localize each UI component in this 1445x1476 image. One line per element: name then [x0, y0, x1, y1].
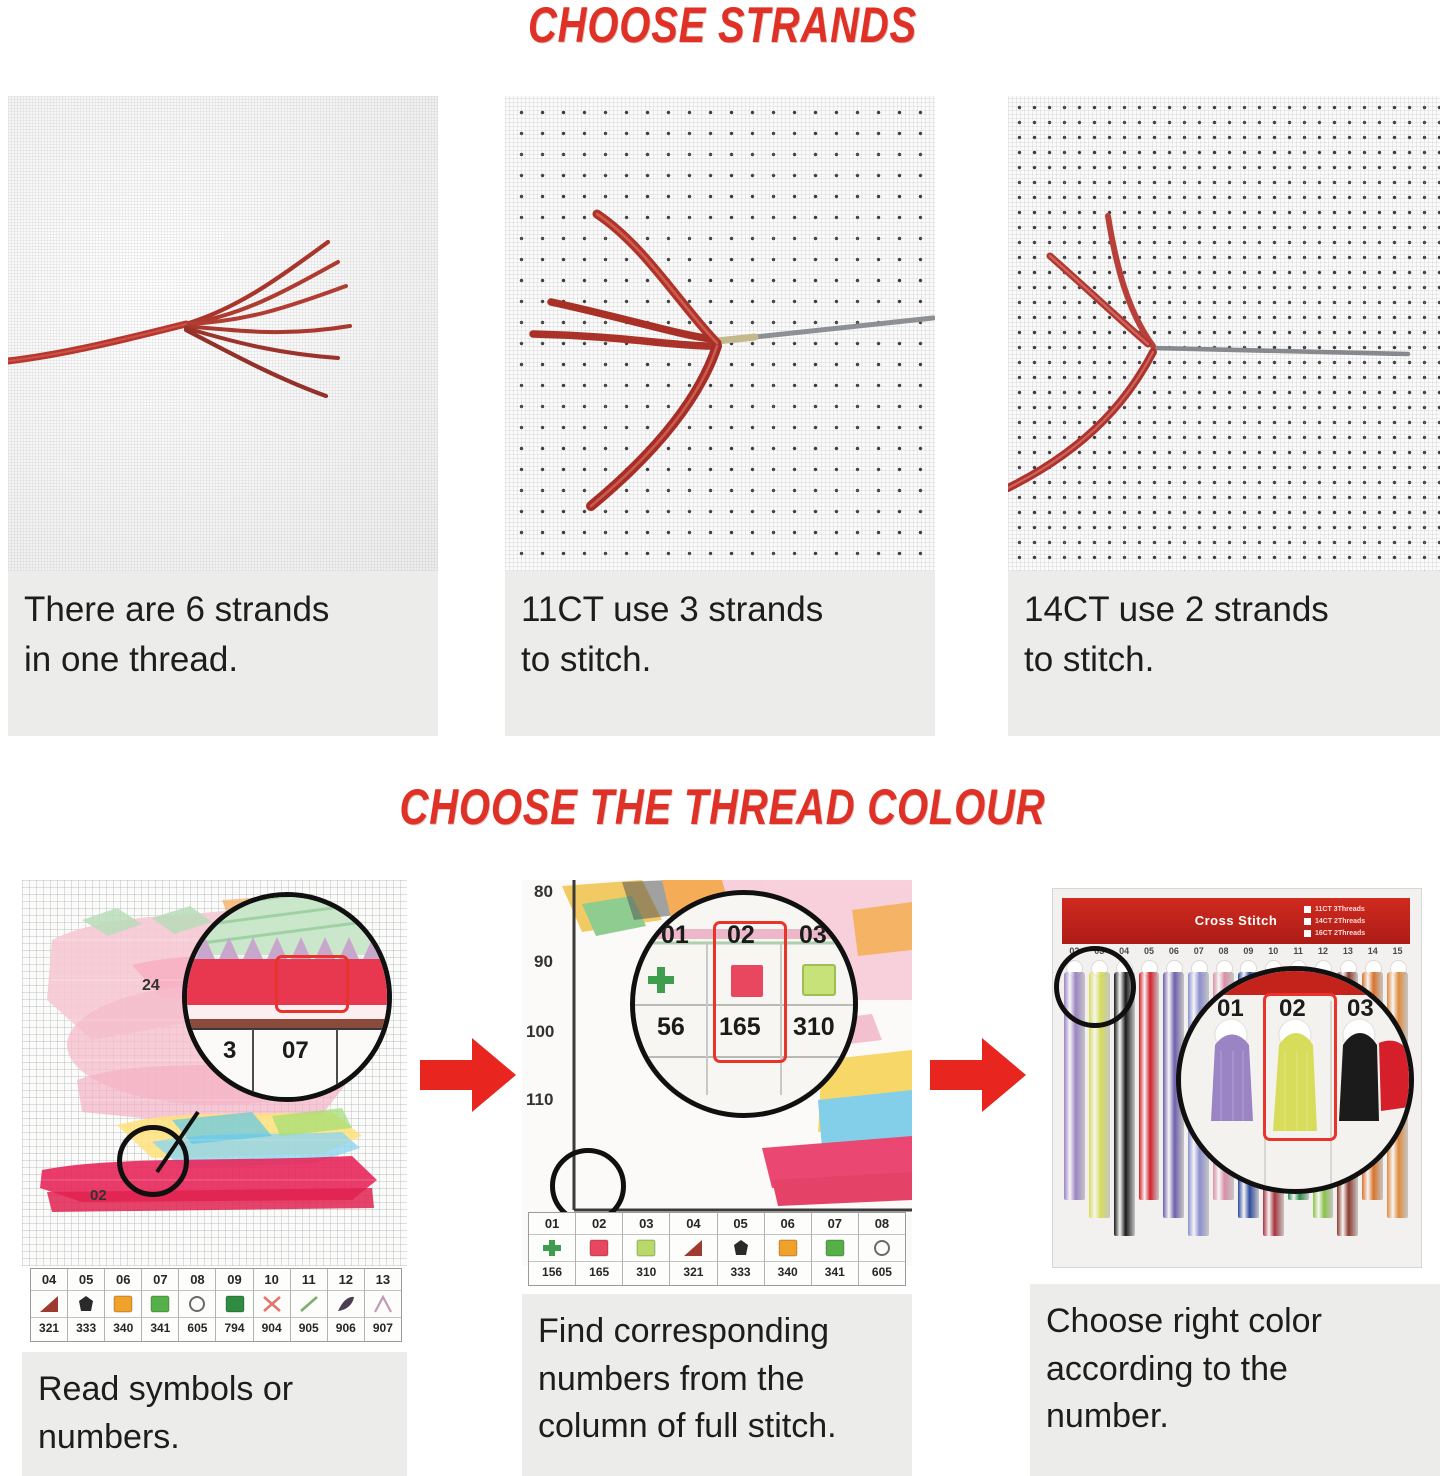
- photo-plain-fabric-thread: [8, 96, 438, 571]
- legend-number: 04: [31, 1269, 67, 1290]
- caption-read-symbols: Read symbols or numbers.: [22, 1352, 407, 1476]
- legend-column: 11905: [291, 1269, 328, 1341]
- magnified-number-2: 07: [282, 1037, 309, 1065]
- legend-symbol-icon: [105, 1290, 141, 1318]
- photo-aida-14ct-needle: [1008, 96, 1440, 571]
- caption-find-numbers: Find corresponding numbers from the colu…: [522, 1294, 912, 1476]
- caption-choose-color: Choose right color according to the numb…: [1030, 1284, 1440, 1476]
- magnified-number-01: 01: [661, 921, 689, 950]
- legend-dmc-code: 341: [142, 1318, 178, 1338]
- thread-peg-number: 13: [1335, 946, 1360, 956]
- legend-column: 06340: [765, 1213, 812, 1285]
- caption-11ct: 11CT use 3 strands to stitch.: [505, 571, 935, 736]
- photo-aida-11ct-needle: [505, 96, 935, 571]
- legend-symbol-icon: [291, 1290, 327, 1318]
- legend-symbol-icon: [623, 1234, 669, 1262]
- thread-peg-number: 06: [1161, 946, 1186, 956]
- magnifier-lens-symbols: 3 07: [182, 892, 392, 1102]
- strand-panel-14ct: 14CT use 2 strands to stitch.: [1008, 96, 1440, 736]
- caption-line-2: to stitch.: [1024, 635, 1424, 685]
- needle-eye: [717, 337, 755, 341]
- strand-panel-6-strands: There are 6 strands in one thread.: [8, 96, 438, 736]
- checkbox-icon[interactable]: [1304, 918, 1311, 925]
- legend-dmc-code: 340: [765, 1262, 811, 1282]
- magnified-number-01: 01: [1217, 995, 1244, 1023]
- legend-column: 01156: [529, 1213, 576, 1285]
- legend-number: 05: [68, 1269, 104, 1290]
- magnified-number-1: 3: [223, 1037, 236, 1065]
- svg-text:02: 02: [90, 1187, 107, 1204]
- checkbox-label: 16CT 2Threads: [1315, 930, 1365, 937]
- legend-column: 07341: [142, 1269, 179, 1341]
- legend-dmc-code: 794: [216, 1318, 252, 1338]
- thread-peg-number: 10: [1261, 946, 1286, 956]
- legend-number: 07: [812, 1213, 858, 1234]
- magnified-number-02: 02: [727, 921, 755, 950]
- highlight-box-magnified: [275, 955, 349, 1013]
- caption-line-2: numbers.: [38, 1414, 391, 1462]
- legend-symbol-icon: [142, 1290, 178, 1318]
- caption-line-1: There are 6 strands: [24, 585, 422, 635]
- thread-peg-number: 14: [1360, 946, 1385, 956]
- checkbox-label: 11CT 3Threads: [1315, 906, 1365, 913]
- legend-symbol-icon: [365, 1290, 401, 1318]
- thread-six-strands-illustration: [8, 96, 438, 571]
- legend-column: 08605: [859, 1213, 905, 1285]
- needle-shaft: [1153, 348, 1408, 354]
- legend-symbol-icon: [529, 1234, 575, 1262]
- colour-panel-find-numbers: 80 90 100 110 01 02: [522, 880, 912, 1476]
- thread-card-header: Cross Stitch 11CT 3Threads 14CT 2Threads…: [1062, 898, 1410, 944]
- thread-peg-number: 12: [1311, 946, 1336, 956]
- legend-symbol-icon: [179, 1290, 215, 1318]
- thread-peg-number: 05: [1137, 946, 1162, 956]
- photo-thread-card: Cross Stitch 11CT 3Threads 14CT 2Threads…: [1030, 880, 1440, 1278]
- legend-number: 02: [576, 1213, 622, 1234]
- legend-dmc-code: 905: [291, 1318, 327, 1338]
- caption-line-2: to stitch.: [521, 635, 919, 685]
- legend-symbol-icon: [670, 1234, 716, 1262]
- legend-symbol-icon: [859, 1234, 905, 1262]
- legend-column: 09794: [216, 1269, 253, 1341]
- legend-number: 11: [291, 1269, 327, 1290]
- legend-dmc-code: 907: [365, 1318, 401, 1338]
- legend-column: 04321: [670, 1213, 717, 1285]
- section-heading-choose-thread-colour: CHOOSE THE THREAD COLOUR: [145, 778, 1301, 836]
- caption-line-1: Read symbols or: [38, 1366, 391, 1414]
- caption-line-3: number.: [1046, 1393, 1424, 1441]
- legend-column: 10904: [254, 1269, 291, 1341]
- photo-pattern-chart-symbols: 24 02: [22, 880, 407, 1266]
- colour-panel-choose-color: Cross Stitch 11CT 3Threads 14CT 2Threads…: [1030, 880, 1440, 1476]
- legend-dmc-code: 605: [859, 1262, 905, 1282]
- legend-symbol-icon: [68, 1290, 104, 1318]
- legend-column: 06340: [105, 1269, 142, 1341]
- checkbox-icon[interactable]: [1304, 930, 1311, 937]
- magnified-code-165: 165: [719, 1013, 761, 1042]
- legend-number: 05: [718, 1213, 764, 1234]
- legend-symbol-icon: [576, 1234, 622, 1262]
- caption-line-1: Choose right color: [1046, 1298, 1424, 1346]
- thread-two-strands-needle-illustration: [1008, 96, 1440, 571]
- legend-number: 03: [623, 1213, 669, 1234]
- caption-line-1: Find corresponding: [538, 1308, 896, 1356]
- caption-line-3: column of full stitch.: [538, 1403, 896, 1451]
- legend-number: 04: [670, 1213, 716, 1234]
- legend-dmc-code: 904: [254, 1318, 290, 1338]
- legend-column: 12906: [328, 1269, 365, 1341]
- legend-column: 04321: [31, 1269, 68, 1341]
- legend-number: 12: [328, 1269, 364, 1290]
- legend-dmc-code: 333: [718, 1262, 764, 1282]
- caption-14ct: 14CT use 2 strands to stitch.: [1008, 571, 1440, 736]
- row-axis-label-90: 90: [534, 952, 553, 972]
- legend-column: 08605: [179, 1269, 216, 1341]
- legend-symbol-icon: [812, 1234, 858, 1262]
- legend-number: 09: [216, 1269, 252, 1290]
- thread-peg-number: 08: [1211, 946, 1236, 956]
- svg-text:24: 24: [142, 977, 160, 994]
- legend-column: 03310: [623, 1213, 670, 1285]
- legend-dmc-code: 341: [812, 1262, 858, 1282]
- legend-dmc-code: 605: [179, 1318, 215, 1338]
- chart-legend-symbols: 0432105333063400734108605097941090411905…: [30, 1268, 402, 1342]
- magnifier-source-circle: [1054, 946, 1136, 1028]
- legend-column: 05333: [718, 1213, 765, 1285]
- legend-dmc-code: 310: [623, 1262, 669, 1282]
- magnifier-lens-threads: 01 02 03: [1176, 966, 1414, 1194]
- legend-symbol-icon: [328, 1290, 364, 1318]
- legend-number: 07: [142, 1269, 178, 1290]
- arrow-right-1: [420, 1032, 516, 1118]
- legend-column: 07341: [812, 1213, 859, 1285]
- legend-number: 01: [529, 1213, 575, 1234]
- caption-line-2: in one thread.: [24, 635, 422, 685]
- legend-dmc-code: 333: [68, 1318, 104, 1338]
- photo-pattern-chart-numbers: 80 90 100 110 01 02: [522, 880, 912, 1266]
- thread-peg-number: 07: [1186, 946, 1211, 956]
- checkbox-icon[interactable]: [1304, 906, 1311, 913]
- caption-6-strands: There are 6 strands in one thread.: [8, 571, 438, 736]
- legend-number: 08: [179, 1269, 215, 1290]
- legend-symbol-icon: [765, 1234, 811, 1262]
- legend-column: 05333: [68, 1269, 105, 1341]
- legend-number: 10: [254, 1269, 290, 1290]
- legend-dmc-code: 906: [328, 1318, 364, 1338]
- legend-dmc-code: 165: [576, 1262, 622, 1282]
- row-axis-label-110: 110: [526, 1090, 553, 1110]
- magnified-number-03: 03: [799, 921, 827, 950]
- row-axis-label-100: 100: [526, 1022, 554, 1042]
- legend-symbol-icon: [718, 1234, 764, 1262]
- arrow-right-2: [930, 1032, 1026, 1118]
- caption-line-1: 11CT use 3 strands: [521, 585, 919, 635]
- magnified-code-310: 310: [793, 1013, 835, 1042]
- legend-dmc-code: 321: [670, 1262, 716, 1282]
- thread-peg-number: 15: [1385, 946, 1410, 956]
- card-checkbox-1: 11CT 3Threads: [1304, 906, 1365, 913]
- row-axis-label-80: 80: [534, 882, 553, 902]
- legend-column: 02165: [576, 1213, 623, 1285]
- legend-number: 08: [859, 1213, 905, 1234]
- thread-peg-number: 09: [1236, 946, 1261, 956]
- legend-number: 13: [365, 1269, 401, 1290]
- legend-dmc-code: 321: [31, 1318, 67, 1338]
- thread-peg-number: 11: [1286, 946, 1311, 956]
- thread-skein[interactable]: [1139, 972, 1160, 1200]
- card-checkbox-2: 14CT 2Threads: [1304, 918, 1365, 925]
- magnifier-source-circle: [117, 1125, 189, 1197]
- caption-line-2: numbers from the: [538, 1356, 896, 1404]
- magnified-code-56: 56: [657, 1013, 685, 1042]
- strand-panel-11ct: 11CT use 3 strands to stitch.: [505, 96, 935, 736]
- legend-number: 06: [765, 1213, 811, 1234]
- magnifier-lens-numbers: 01 02 03 56 165 310: [630, 890, 858, 1118]
- chart-legend-numbers: 0115602165033100432105333063400734108605: [528, 1212, 906, 1286]
- magnified-number-02: 02: [1279, 995, 1306, 1023]
- legend-number: 06: [105, 1269, 141, 1290]
- magnified-number-03: 03: [1347, 995, 1374, 1023]
- legend-symbol-icon: [31, 1290, 67, 1318]
- colour-panel-read-symbols: 24 02: [22, 880, 407, 1476]
- thread-three-strands-needle-illustration: [505, 96, 935, 571]
- legend-column: 13907: [365, 1269, 401, 1341]
- caption-line-1: 14CT use 2 strands: [1024, 585, 1424, 635]
- caption-line-2: according to the: [1046, 1346, 1424, 1394]
- legend-symbol-icon: [216, 1290, 252, 1318]
- section-heading-choose-strands: CHOOSE STRANDS: [145, 0, 1301, 54]
- legend-dmc-code: 340: [105, 1318, 141, 1338]
- checkbox-label: 14CT 2Threads: [1315, 918, 1365, 925]
- legend-dmc-code: 156: [529, 1262, 575, 1282]
- legend-symbol-icon: [254, 1290, 290, 1318]
- card-checkbox-3: 16CT 2Threads: [1304, 930, 1365, 937]
